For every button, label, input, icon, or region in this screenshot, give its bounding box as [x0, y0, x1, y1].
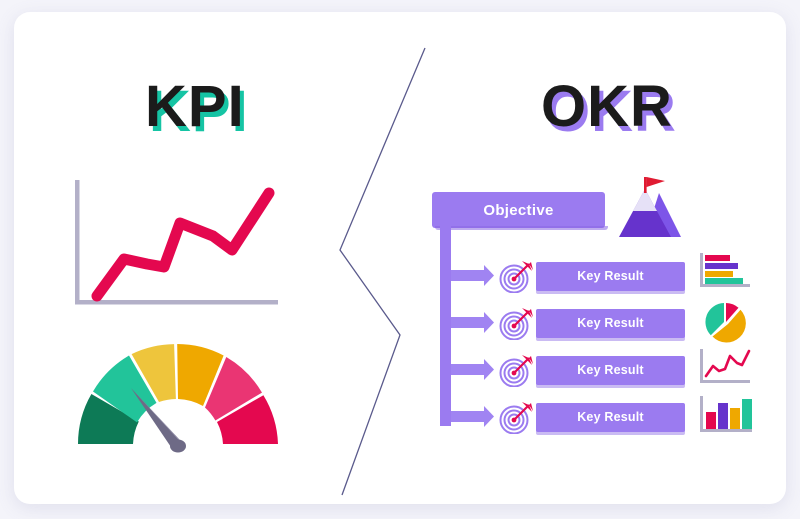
key-result-box-1[interactable]: Key Result	[536, 262, 685, 291]
key-result-row-4[interactable]: Key Result	[498, 399, 685, 435]
mini-hbar-bar-1	[705, 255, 730, 261]
mini-vbar-bar-2	[718, 403, 728, 429]
mini-hbar-y-axis	[700, 253, 703, 287]
key-result-box-2[interactable]: Key Result	[536, 309, 685, 338]
kpi-line-chart	[69, 180, 284, 320]
target-dart-icon	[498, 401, 534, 434]
mini-vbar-y-axis	[700, 396, 703, 432]
page-background: KPI KPI OKR OKR	[0, 0, 800, 519]
horizontal-bar-chart-icon	[698, 251, 756, 293]
okr-title: OKR OKR	[541, 78, 673, 136]
mini-line-x-axis	[700, 380, 750, 383]
mini-vbar-bar-1	[706, 412, 716, 429]
key-result-box-3[interactable]: Key Result	[536, 356, 685, 385]
kpi-trend-line	[97, 193, 269, 296]
kpi-gauge	[59, 334, 299, 459]
connector-arrow-1	[451, 265, 494, 286]
target-dart-icon	[498, 307, 534, 340]
key-result-box-4[interactable]: Key Result	[536, 403, 685, 432]
mini-line-series	[706, 351, 749, 376]
okr-title-face: OKR	[541, 74, 673, 139]
connector-arrow-2	[451, 312, 494, 333]
kpi-title-face: KPI	[145, 74, 245, 139]
zigzag-divider-path	[340, 48, 425, 495]
key-result-label-3: Key Result	[577, 363, 644, 377]
key-result-label-2: Key Result	[577, 316, 644, 330]
mini-hbar-bar-4	[705, 278, 743, 284]
objective-box[interactable]: Objective	[432, 192, 605, 228]
x-axis	[75, 300, 278, 305]
connector-branches	[451, 265, 494, 427]
key-result-label-1: Key Result	[577, 269, 644, 283]
mini-hbar-x-axis	[700, 284, 750, 287]
flag-banner	[647, 177, 665, 187]
connector-arrow-4	[451, 406, 494, 427]
mini-line-y-axis	[700, 349, 703, 383]
line-chart-icon	[698, 347, 756, 389]
key-result-row-3[interactable]: Key Result	[498, 352, 685, 388]
target-dart-icon	[498, 260, 534, 293]
mountain-flag-icon	[615, 175, 689, 237]
connector-trunk	[440, 226, 451, 426]
key-result-row-2[interactable]: Key Result	[498, 305, 685, 341]
infographic-card: KPI KPI OKR OKR	[14, 12, 786, 504]
mini-vbar-bar-3	[730, 408, 740, 429]
y-axis	[75, 180, 80, 304]
objective-label: Objective	[483, 202, 553, 219]
mini-hbar-bar-2	[705, 263, 738, 269]
pie-chart-icon	[704, 300, 748, 344]
gauge-segments	[78, 344, 278, 444]
target-dart-icon	[498, 354, 534, 387]
vertical-bar-chart-icon	[698, 394, 756, 440]
connector-arrow-3	[451, 359, 494, 380]
mini-vbar-x-axis	[700, 429, 752, 432]
mini-vbar-bar-4	[742, 399, 752, 429]
flag-pole	[644, 177, 647, 193]
key-result-row-1[interactable]: Key Result	[498, 258, 685, 294]
key-result-label-4: Key Result	[577, 410, 644, 424]
mini-hbar-bar-3	[705, 271, 733, 277]
gauge-needle-hub	[170, 440, 186, 453]
kpi-title: KPI KPI	[145, 78, 245, 136]
